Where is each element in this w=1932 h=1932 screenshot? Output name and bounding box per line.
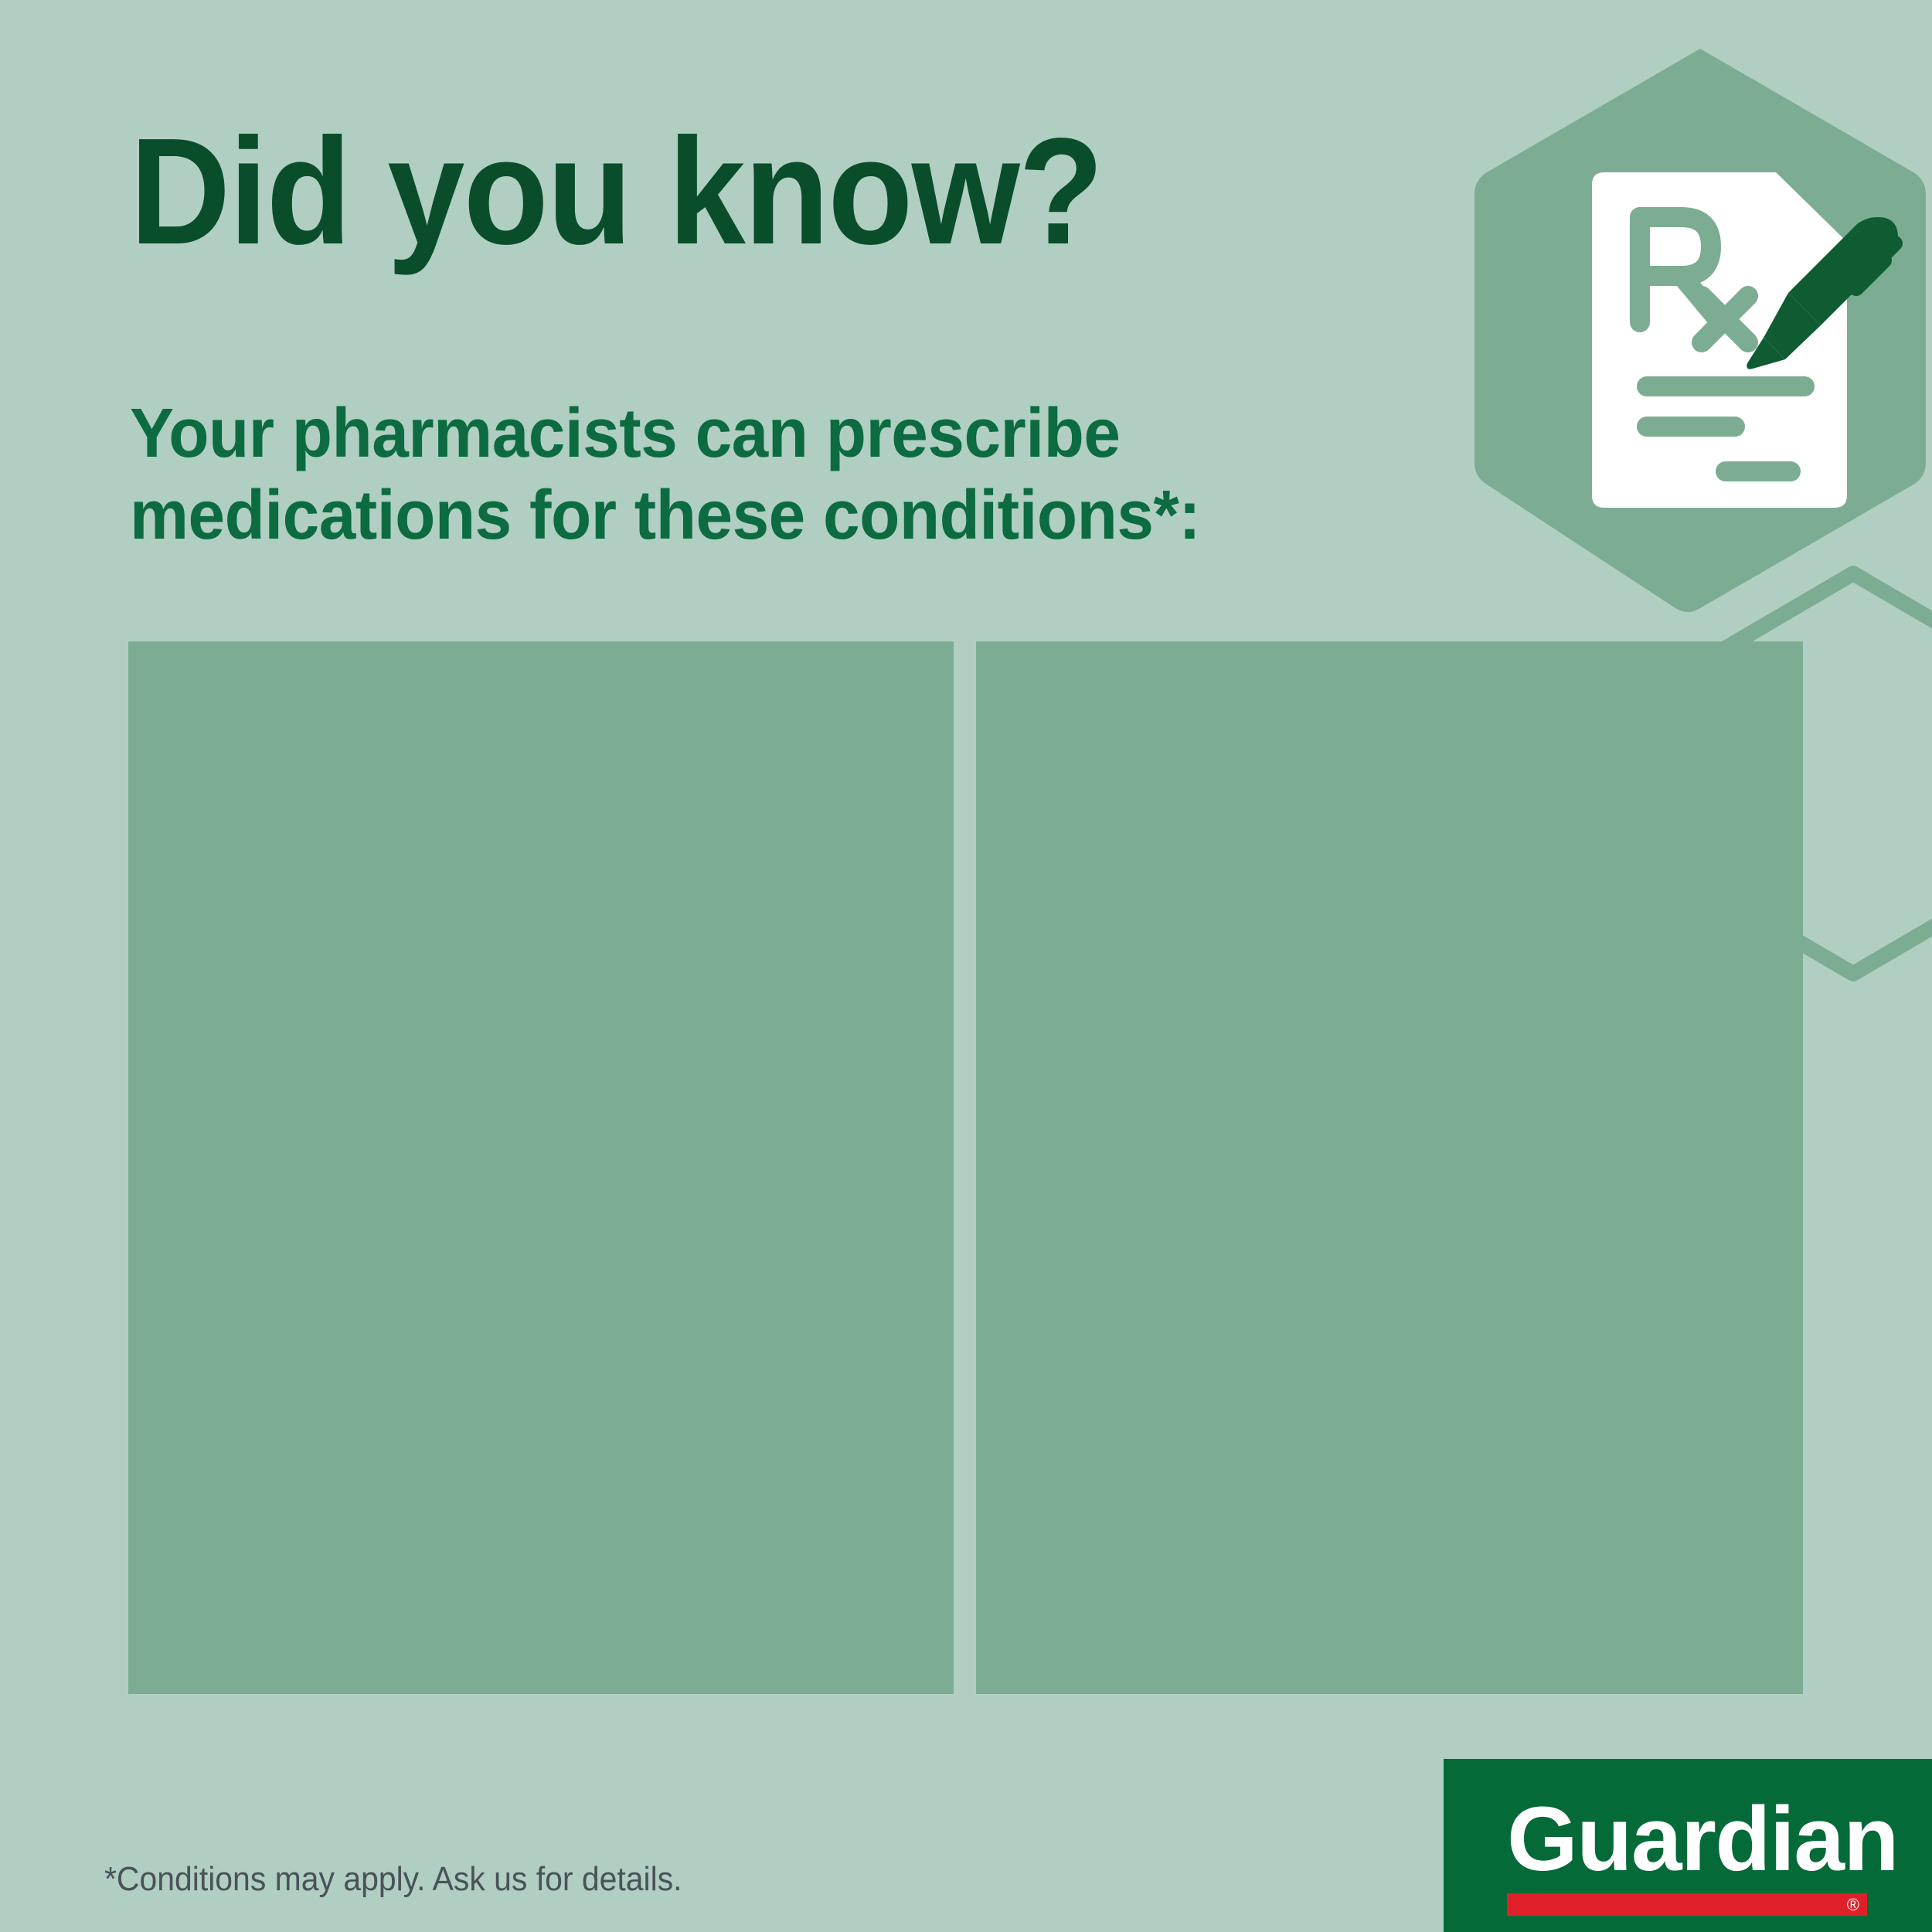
subheading-line-2: medications for these conditions*:	[130, 474, 1231, 556]
content-panels	[128, 641, 1803, 1694]
guardian-logo: Guardian ®	[1444, 1759, 1932, 1932]
content-panel-left	[128, 641, 954, 1694]
subheading-line-1: Your pharmacists can prescribe	[130, 393, 1231, 474]
page-title: Did you know?	[130, 116, 1102, 267]
content-panel-right	[976, 641, 1803, 1694]
guardian-logo-inner: Guardian ®	[1507, 1796, 1867, 1916]
guardian-wordmark: Guardian	[1507, 1796, 1867, 1883]
poster-canvas: Did you know? Your pharmacists can presc…	[0, 0, 1932, 1932]
rx-document-icon	[1592, 172, 1847, 508]
subheading: Your pharmacists can prescribe medicatio…	[130, 393, 1231, 556]
footnote-disclaimer: *Conditions may apply. Ask us for detail…	[104, 1861, 682, 1898]
rx-prescription-badge	[1461, 35, 1932, 622]
registered-trademark-icon: ®	[1847, 1896, 1859, 1913]
guardian-logo-rule: ®	[1507, 1893, 1867, 1916]
